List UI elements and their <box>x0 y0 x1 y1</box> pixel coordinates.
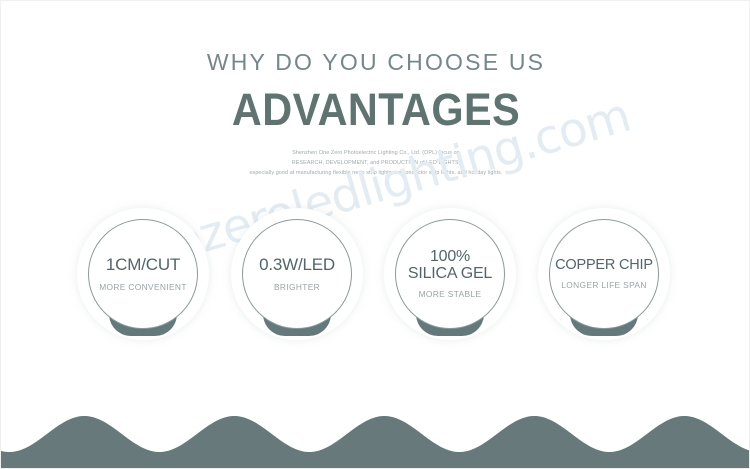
badge-subtitle: MORE CONVENIENT <box>99 282 187 292</box>
company-description-line-1: Shenzhen One Zero Photoelectric Lighting… <box>1 148 750 158</box>
badge-title: COPPER CHIP <box>555 258 653 273</box>
advantage-badge-power: 0.3W/LED BRIGHTER <box>231 208 363 340</box>
advantage-badge-silica-gel: 100% SILICA GEL MORE STABLE <box>384 208 516 340</box>
badge-title: 1CM/CUT <box>106 256 180 274</box>
company-description: Shenzhen One Zero Photoelectric Lighting… <box>1 148 750 178</box>
sine-wave-footer-icon <box>1 388 750 468</box>
advantage-badge-copper-chip: COPPER CHIP LONGER LIFE SPAN <box>538 208 670 340</box>
page-title: ADVANTAGES <box>31 87 721 132</box>
advantage-badge-1cm-cut: 1CM/CUT MORE CONVENIENT <box>77 208 209 340</box>
poster-header: WHY DO YOU CHOOSE US ADVANTAGES Shenzhen… <box>1 1 750 178</box>
badge-ring: 0.3W/LED BRIGHTER <box>242 219 352 329</box>
advantage-badge-group: 1CM/CUT MORE CONVENIENT 0.3W/LED BRIGHTE… <box>1 208 750 348</box>
badge-ring: 1CM/CUT MORE CONVENIENT <box>88 219 198 329</box>
badge-ring: COPPER CHIP LONGER LIFE SPAN <box>549 219 659 329</box>
header-kicker: WHY DO YOU CHOOSE US <box>1 51 750 74</box>
advantages-poster: onezeroledlighting.com WHY DO YOU CHOOSE… <box>0 0 750 469</box>
company-description-line-3: especially good at manufacturing flexibl… <box>1 168 750 178</box>
badge-subtitle: LONGER LIFE SPAN <box>561 280 647 290</box>
badge-subtitle: BRIGHTER <box>274 282 320 292</box>
badge-subtitle: MORE STABLE <box>419 289 482 299</box>
badge-title-line-2: SILICA GEL <box>408 266 492 283</box>
badge-ring: 100% SILICA GEL MORE STABLE <box>395 219 505 329</box>
badge-title: 0.3W/LED <box>259 256 335 274</box>
badge-title: 100% <box>430 249 470 266</box>
company-description-line-2: RESEARCH, DEVELOPMENT, and PRODUCTION of… <box>1 158 750 168</box>
